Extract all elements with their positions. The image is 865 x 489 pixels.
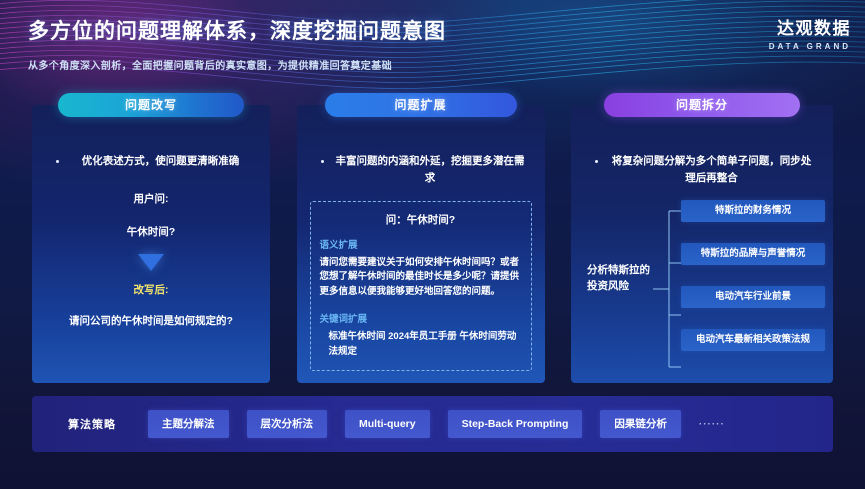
- chip-hierarchical-analysis[interactable]: 层次分析法: [247, 410, 328, 438]
- semantic-expansion-heading: 语义扩展: [320, 237, 522, 251]
- panel-title-question-rewrite: 问题改写: [58, 93, 244, 117]
- algorithm-strategy-bar: 算法策略 主题分解法 层次分析法 Multi-query Step-Back P…: [32, 396, 833, 452]
- page-title: 多方位的问题理解体系，深度挖掘问题意图: [28, 18, 628, 45]
- keyword-expansion-heading: 关键词扩展: [320, 311, 522, 325]
- expansion-source-question: 问：午休时间?: [320, 212, 522, 227]
- panel-question-expansion: 问题扩展 丰富问题的内涵和外延，挖掘更多潜在需求 问：午休时间? 语义扩展 请问…: [297, 105, 545, 383]
- panel-title-question-expansion: 问题扩展: [325, 93, 517, 117]
- down-arrow-icon: [138, 254, 164, 271]
- slide-root: 多方位的问题理解体系，深度挖掘问题意图 从多个角度深入剖析，全面把握问题背后的真…: [0, 0, 865, 489]
- logo-english-text: DATA GRAND: [769, 42, 851, 51]
- chip-topic-decomposition[interactable]: 主题分解法: [148, 410, 229, 438]
- panel-question-decomposition: 问题拆分 将复杂问题分解为多个简单子问题，同步处理后再整合 分析特斯拉的投资风险: [571, 105, 833, 383]
- bullet-row-decomposition: 将复杂问题分解为多个简单子问题，同步处理后再整合: [581, 153, 823, 188]
- rewritten-question-text: 请问公司的午休时间是如何规定的?: [42, 313, 260, 328]
- bullet-dot-icon: [321, 160, 324, 163]
- panel-question-rewrite: 问题改写 优化表述方式，使问题更清晰准确 用户问: 午休时间? 改写后: 请问公…: [32, 105, 270, 383]
- brand-logo: 达观数据 DATA GRAND: [769, 14, 851, 51]
- chip-step-back-prompting[interactable]: Step-Back Prompting: [448, 410, 583, 438]
- page-subtitle: 从多个角度深入剖析，全面把握问题背后的真实意图，为提供精准回答奠定基础: [28, 57, 628, 72]
- tree-item-finance[interactable]: 特斯拉的财务情况: [681, 200, 825, 222]
- keyword-expansion-text: 标准午休时间 2024年员工手册 午休时间劳动法规定: [320, 330, 522, 359]
- panel-title-question-decomposition: 问题拆分: [604, 93, 800, 117]
- decomposition-tree: 分析特斯拉的投资风险 特斯拉的财务情况 特斯拉的品牌与声誉情况 电动汽车行业前景: [581, 200, 823, 382]
- bullet-text-decomposition: 将复杂问题分解为多个简单子问题，同步处理后再整合: [608, 153, 815, 188]
- logo-chinese-text: 达观数据: [769, 14, 851, 39]
- bullet-text-rewrite: 优化表述方式，使问题更清晰准确: [69, 153, 252, 170]
- more-strategies-ellipsis: ······: [699, 419, 725, 430]
- bullet-dot-icon: [56, 160, 59, 163]
- user-question-label: 用户问:: [42, 192, 260, 208]
- header-block: 多方位的问题理解体系，深度挖掘问题意图 从多个角度深入剖析，全面把握问题背后的真…: [28, 18, 628, 72]
- algorithm-strategy-label: 算法策略: [68, 416, 116, 432]
- bullet-dot-icon: [595, 160, 598, 163]
- bullet-row-expansion: 丰富问题的内涵和外延，挖掘更多潜在需求: [307, 153, 535, 188]
- bullet-text-expansion: 丰富问题的内涵和外延，挖掘更多潜在需求: [334, 153, 527, 188]
- chip-causal-chain-analysis[interactable]: 因果链分析: [600, 410, 681, 438]
- semantic-expansion-text: 请问您需要建议关于如何安排午休时间吗？或者您想了解午休时间的最佳时长是多少呢？请…: [320, 256, 522, 300]
- bullet-row-rewrite: 优化表述方式，使问题更清晰准确: [42, 153, 260, 170]
- tree-item-brand-reputation[interactable]: 特斯拉的品牌与声誉情况: [681, 243, 825, 265]
- chip-multi-query[interactable]: Multi-query: [345, 410, 430, 438]
- tree-item-ev-policy-regulation[interactable]: 电动汽车最新相关政策法规: [681, 329, 825, 351]
- tree-item-ev-industry-outlook[interactable]: 电动汽车行业前景: [681, 286, 825, 308]
- expansion-example-box: 问：午休时间? 语义扩展 请问您需要建议关于如何安排午休时间吗？或者您想了解午休…: [310, 201, 532, 372]
- rewritten-label: 改写后:: [42, 282, 260, 297]
- rewrite-example-body: 用户问: 午休时间? 改写后: 请问公司的午休时间是如何规定的?: [42, 192, 260, 328]
- user-question-text: 午休时间?: [42, 225, 260, 241]
- tree-items-list: 特斯拉的财务情况 特斯拉的品牌与声誉情况 电动汽车行业前景 电动汽车最新相关政策…: [681, 200, 825, 372]
- panels-container: 问题改写 优化表述方式，使问题更清晰准确 用户问: 午休时间? 改写后: 请问公…: [32, 105, 833, 383]
